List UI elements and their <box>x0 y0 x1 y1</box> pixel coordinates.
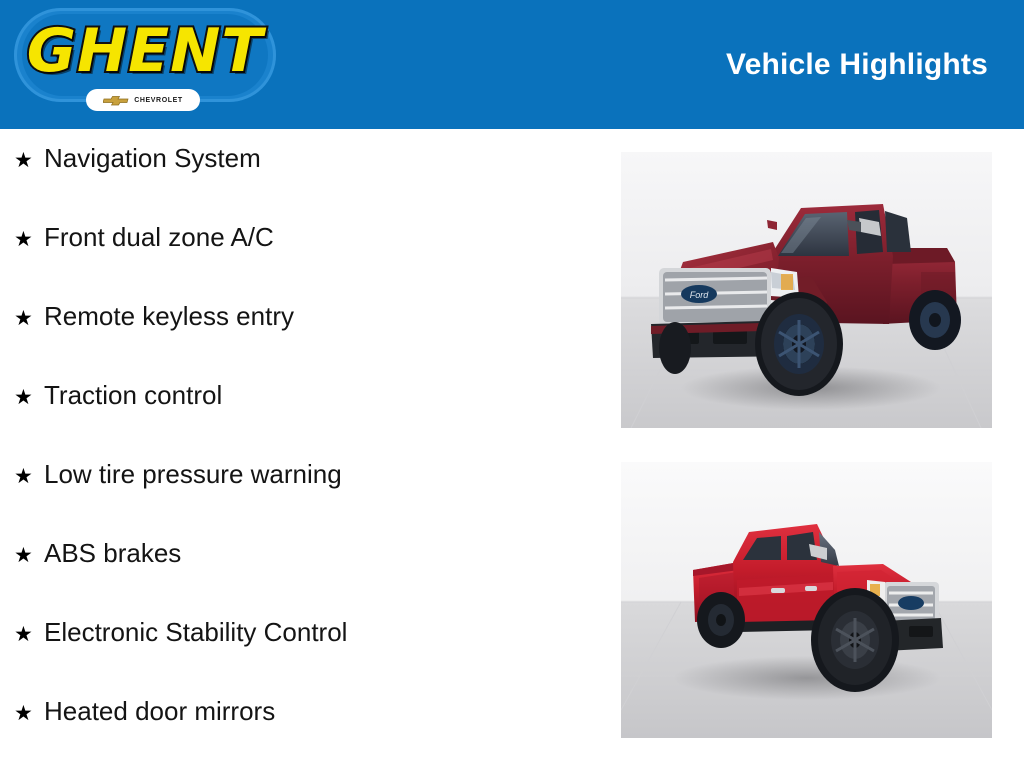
star-icon: ★ <box>14 466 44 487</box>
feature-label: Front dual zone A/C <box>44 222 274 253</box>
vehicle-features-list: ★ Navigation System ★ Front dual zone A/… <box>0 129 600 768</box>
list-item: ★ Low tire pressure warning <box>0 459 600 538</box>
star-icon: ★ <box>14 545 44 566</box>
vehicle-highlights-page: GHENT CHEVROLET Vehicle Highlights ★ Nav… <box>0 0 1024 768</box>
feature-label: ABS brakes <box>44 538 181 569</box>
list-item: ★ Heated door mirrors <box>0 696 600 768</box>
feature-label: Low tire pressure warning <box>44 459 342 490</box>
feature-label: Electronic Stability Control <box>44 617 347 648</box>
list-item: ★ Remote keyless entry <box>0 301 600 380</box>
dealer-logo[interactable]: GHENT CHEVROLET <box>0 0 290 129</box>
logo-wordmark: GHENT <box>0 14 290 88</box>
list-item: ★ ABS brakes <box>0 538 600 617</box>
vehicle-photo-passenger-three-quarter[interactable] <box>621 462 992 738</box>
truck-passenger-three-quarter-illustration <box>621 462 992 738</box>
list-item: ★ Electronic Stability Control <box>0 617 600 696</box>
page-header: GHENT CHEVROLET Vehicle Highlights <box>0 0 1024 129</box>
star-icon: ★ <box>14 387 44 408</box>
star-icon: ★ <box>14 150 44 171</box>
star-icon: ★ <box>14 229 44 250</box>
feature-label: Traction control <box>44 380 222 411</box>
feature-label: Heated door mirrors <box>44 696 275 727</box>
vehicle-photo-gallery: Ford <box>621 152 992 738</box>
list-item: ★ Front dual zone A/C <box>0 222 600 301</box>
list-item: ★ Navigation System <box>0 143 600 222</box>
feature-label: Navigation System <box>44 143 261 174</box>
page-content: ★ Navigation System ★ Front dual zone A/… <box>0 129 1024 768</box>
list-item: ★ Traction control <box>0 380 600 459</box>
vehicle-photo-front-three-quarter[interactable]: Ford <box>621 152 992 428</box>
chevrolet-badge-text: CHEVROLET <box>134 97 183 104</box>
truck-front-three-quarter-illustration: Ford <box>621 152 992 428</box>
feature-label: Remote keyless entry <box>44 301 294 332</box>
star-icon: ★ <box>14 703 44 724</box>
svg-text:Ford: Ford <box>690 290 710 300</box>
star-icon: ★ <box>14 624 44 645</box>
page-title: Vehicle Highlights <box>726 48 988 82</box>
chevrolet-badge: CHEVROLET <box>86 89 200 111</box>
star-icon: ★ <box>14 308 44 329</box>
chevrolet-bowtie-icon <box>103 95 129 106</box>
